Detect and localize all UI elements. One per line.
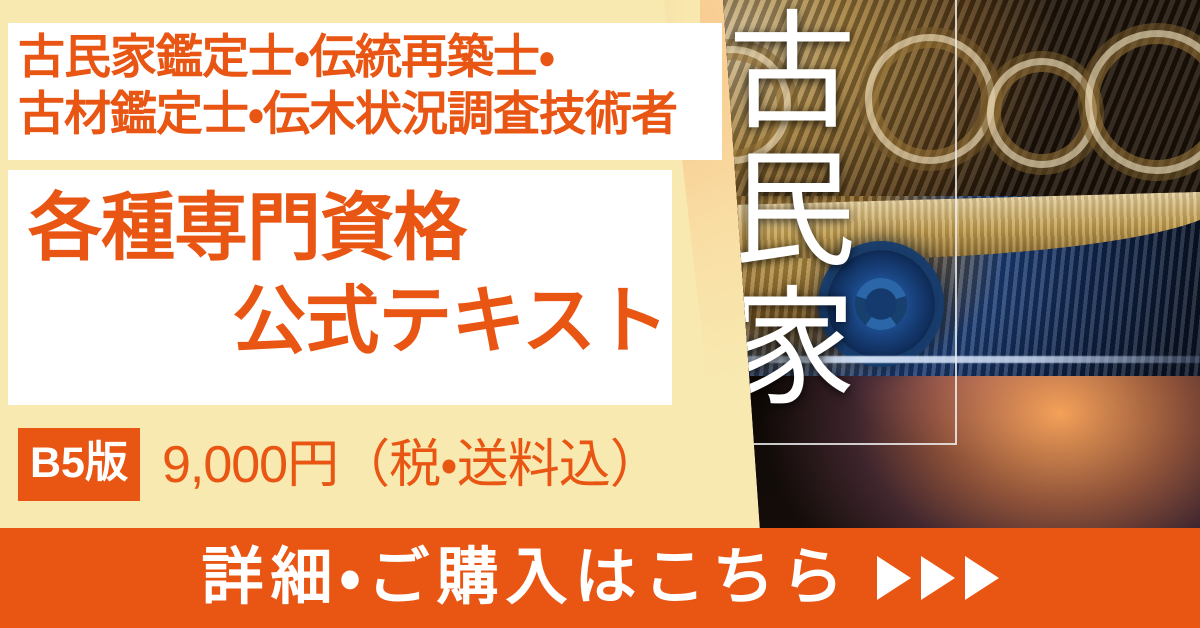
format-badge: B5版 xyxy=(18,428,140,501)
promo-banner: 古民家 伝統構法、古民家活用のための調査と再生の 古民家鑑定士・伝統再築士・ 古… xyxy=(0,0,1200,628)
page-title: 古民家鑑定士・伝統再築士・ 古材鑑定士・伝木状況調査技術者 xyxy=(18,28,724,143)
subheadline-line-1: 各種専門資格 xyxy=(20,182,672,275)
subheadline: 各種専門資格 公式テキスト xyxy=(20,182,672,367)
price-row: B5版 9,000円（税・送料込） xyxy=(18,428,661,501)
price-text: 9,000円（税・送料込） xyxy=(162,439,661,491)
triangle-right-icon xyxy=(965,556,999,600)
subheadline-line-2: 公式テキスト xyxy=(20,275,672,368)
cta-bar[interactable]: 詳細・ご購入はこちら xyxy=(0,528,1200,628)
cta-label: 詳細・ご購入はこちら xyxy=(201,547,850,609)
triangle-right-icon xyxy=(921,556,955,600)
triangle-right-icon xyxy=(877,556,911,600)
cta-arrow-group xyxy=(877,556,999,600)
